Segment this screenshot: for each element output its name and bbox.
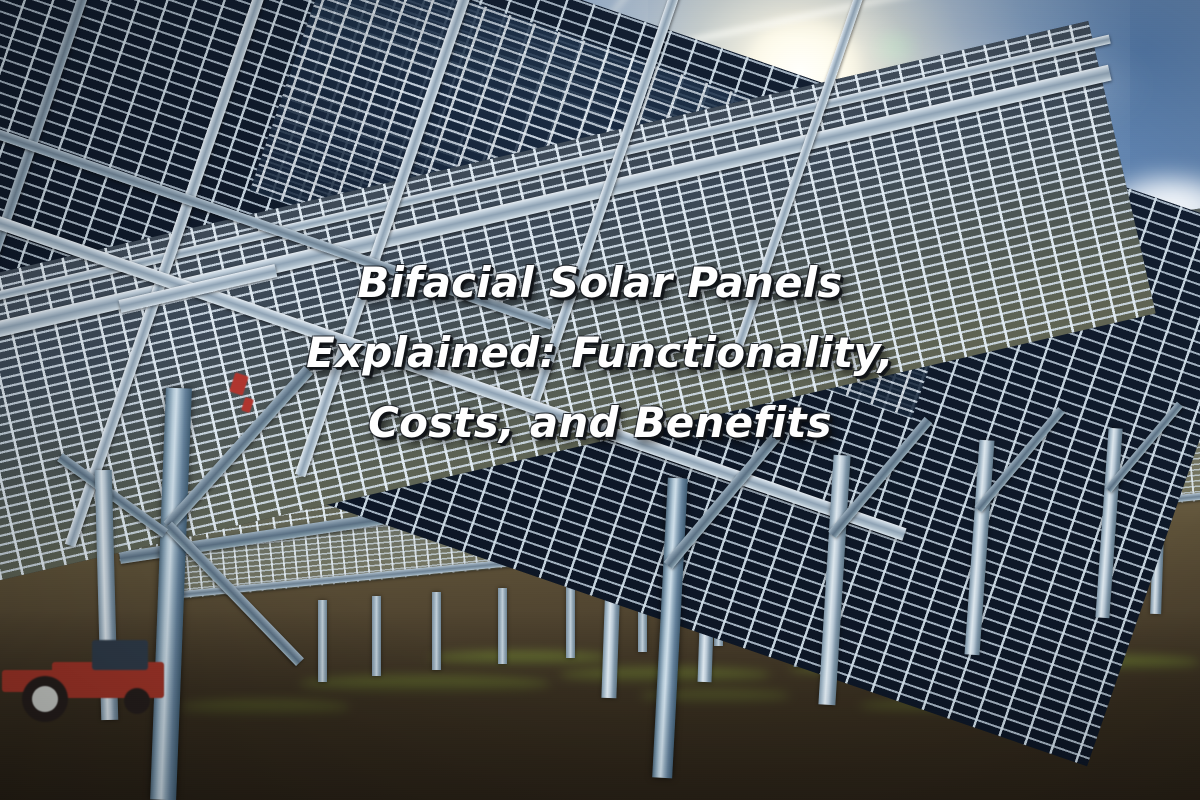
support-post-far (318, 600, 327, 682)
tractor-wheel-hub (32, 686, 58, 712)
support-post-far (566, 584, 575, 658)
support-post-far (432, 592, 441, 670)
tractor-wheel (124, 688, 150, 714)
solar-array (0, 0, 1200, 800)
tractor-cabin (92, 640, 148, 670)
support-post-far (372, 596, 381, 676)
support-post-far (498, 588, 507, 664)
hero-banner: Bifacial Solar Panels Explained: Functio… (0, 0, 1200, 800)
